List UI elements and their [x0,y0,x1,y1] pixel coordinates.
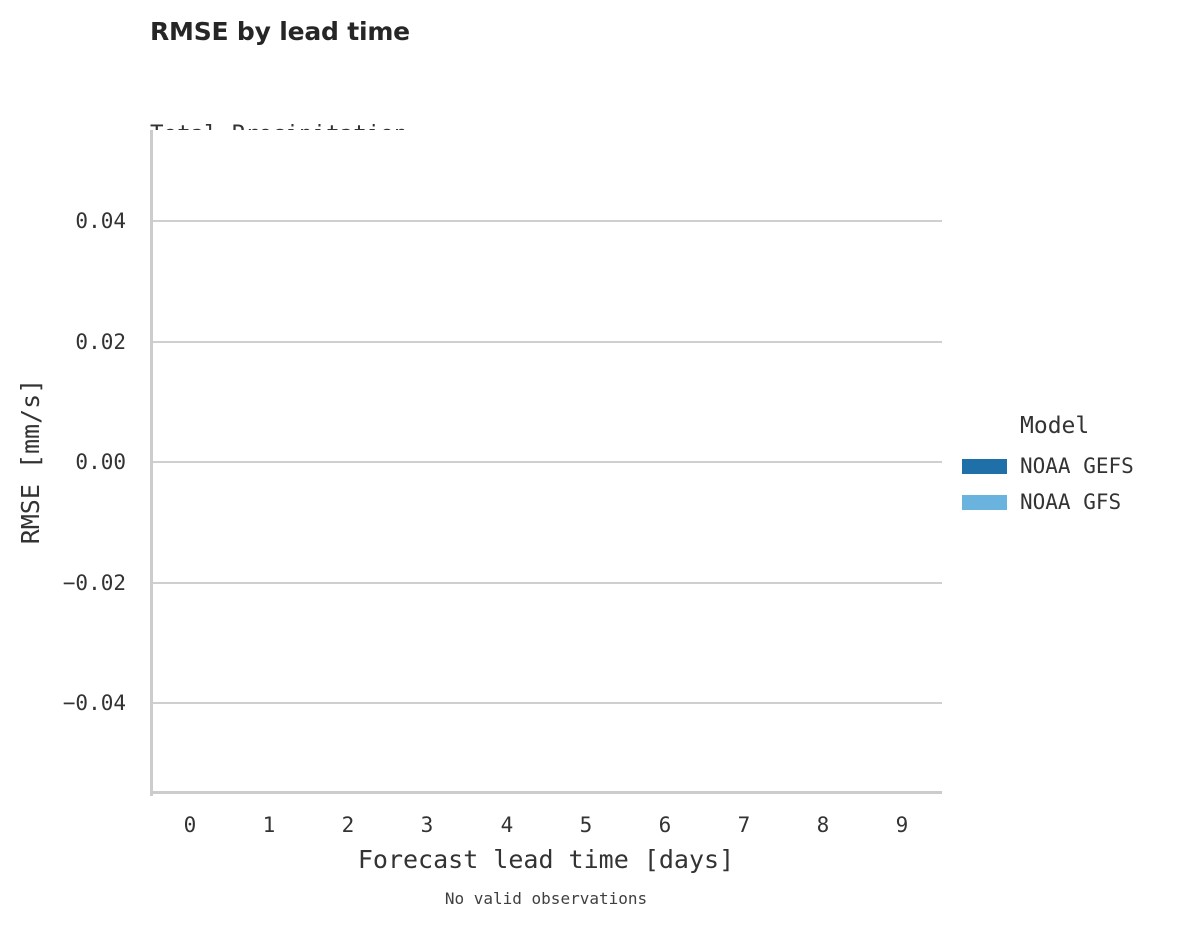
y-axis-label: RMSE [mm/s] [14,130,48,793]
legend-item-noaa-gefs[interactable]: NOAA GEFS [962,451,1172,481]
legend: Model NOAA GEFS NOAA GFS [962,413,1172,523]
x-tick-label: 1 [263,813,276,837]
x-tick-label: 7 [738,813,751,837]
legend-title: Model [1020,413,1172,439]
x-tick-label: 2 [342,813,355,837]
x-tick-label: 0 [184,813,197,837]
x-tick-label: 5 [580,813,593,837]
legend-item-label: NOAA GEFS [1020,454,1134,478]
x-tick-label: 6 [659,813,672,837]
legend-item-noaa-gfs[interactable]: NOAA GFS [962,487,1172,517]
x-axis-label: Forecast lead time [days] [150,845,942,874]
x-tick-label: 3 [421,813,434,837]
legend-item-label: NOAA GFS [1020,490,1121,514]
x-tick-label: 8 [817,813,830,837]
x-tick-label: 4 [501,813,514,837]
legend-swatch-icon [962,459,1007,474]
no-data-annotation: No valid observations [150,889,942,908]
x-tick-label: 9 [896,813,909,837]
legend-swatch-icon [962,495,1007,510]
